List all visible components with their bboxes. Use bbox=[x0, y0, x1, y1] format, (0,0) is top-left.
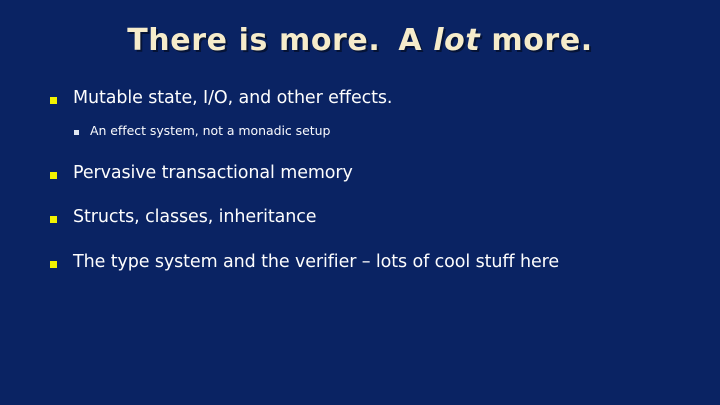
list-item: The type system and the verifier – lots … bbox=[0, 252, 720, 274]
slide-bullet-list: Mutable state, I/O, and other effects. A… bbox=[0, 88, 720, 287]
bullet-square-icon bbox=[50, 216, 57, 223]
bullet-text: Pervasive transactional memory bbox=[73, 163, 353, 185]
title-segment-emphasis: lot bbox=[433, 23, 480, 58]
bullet-square-icon bbox=[50, 97, 57, 104]
sub-bullet-text: An effect system, not a monadic setup bbox=[90, 123, 330, 139]
bullet-square-icon bbox=[50, 172, 57, 179]
sub-bullet-square-icon bbox=[74, 130, 79, 135]
list-spacer bbox=[0, 197, 720, 207]
list-spacer bbox=[0, 242, 720, 252]
title-segment-secondary-tail: more. bbox=[480, 23, 592, 58]
slide-title: There is more.A lot more. bbox=[0, 24, 720, 59]
title-segment-primary: There is more. bbox=[127, 23, 380, 58]
list-item: Mutable state, I/O, and other effects. bbox=[0, 88, 720, 110]
bullet-text: Structs, classes, inheritance bbox=[73, 207, 316, 229]
list-spacer bbox=[0, 153, 720, 163]
title-segment-secondary-lead: A bbox=[398, 23, 433, 58]
bullet-square-icon bbox=[50, 261, 57, 268]
presentation-slide: There is more.A lot more. Mutable state,… bbox=[0, 0, 720, 405]
bullet-text: The type system and the verifier – lots … bbox=[73, 252, 559, 274]
list-item: An effect system, not a monadic setup bbox=[0, 123, 720, 139]
bullet-text: Mutable state, I/O, and other effects. bbox=[73, 88, 392, 110]
list-item: Structs, classes, inheritance bbox=[0, 207, 720, 229]
list-item: Pervasive transactional memory bbox=[0, 163, 720, 185]
